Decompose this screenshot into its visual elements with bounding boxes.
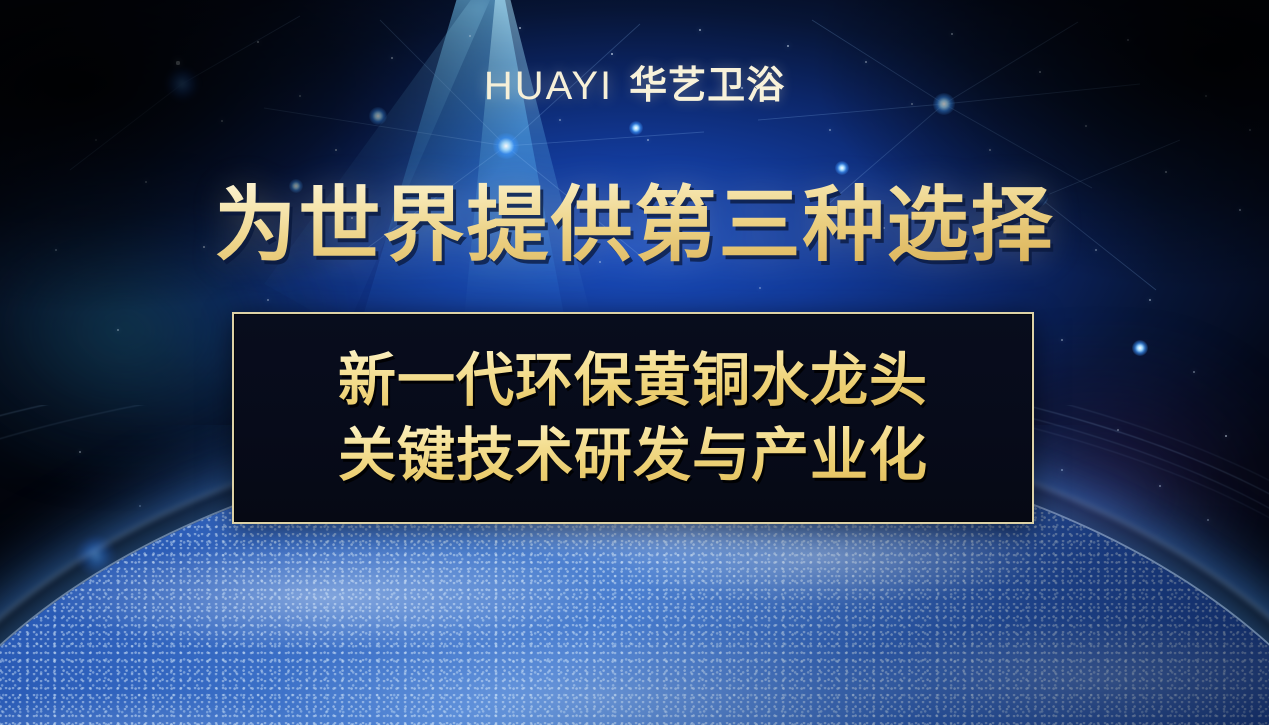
subtitle-line-2: 关键技术研发与产业化 [338,418,928,493]
page-title: 为世界提供第三种选择 [0,182,1269,268]
brand-logo-cn: 华艺卫浴 [629,67,785,105]
subtitle-frame: 新一代环保黄铜水龙头 关键技术研发与产业化 [232,312,1034,524]
brand-logo: HUAYI华艺卫浴 [0,66,1269,106]
subtitle-line-1: 新一代环保黄铜水龙头 [338,343,928,418]
poster-canvas: HUAYI华艺卫浴 为世界提供第三种选择 新一代环保黄铜水龙头 关键技术研发与产… [0,0,1269,725]
brand-logo-en: HUAYI [484,66,613,106]
